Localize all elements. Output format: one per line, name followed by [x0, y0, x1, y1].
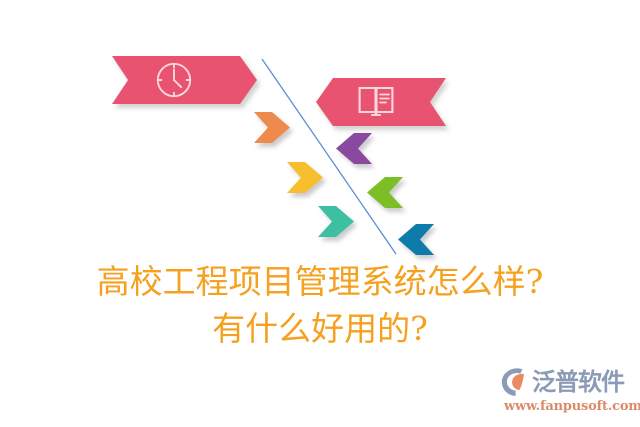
banner-canvas: 高校工程项目管理系统怎么样? 有什么好用的? 泛普软件 www.fanpusof… — [0, 0, 640, 427]
page-title-line-1: 高校工程项目管理系统怎么样? — [0, 258, 640, 305]
arrow-orange — [254, 112, 290, 143]
arrow-blue — [398, 224, 434, 255]
arrow-yellow — [287, 162, 323, 193]
brand-logo[interactable]: 泛普软件 www.fanpusoft.com — [500, 366, 636, 420]
arrow-green — [367, 177, 403, 208]
brand-name: 泛普软件 — [532, 367, 624, 397]
page-title: 高校工程项目管理系统怎么样? 有什么好用的? — [0, 258, 640, 352]
arrow-teal — [318, 206, 354, 237]
brand-url: www.fanpusoft.com — [504, 399, 636, 414]
arrow-purple — [336, 133, 372, 164]
fanpu-logo-mark — [500, 367, 531, 397]
brand-logo-row: 泛普软件 — [500, 366, 636, 398]
page-title-line-2: 有什么好用的? — [0, 305, 640, 352]
chevron-graphic — [0, 0, 640, 270]
clock-banner — [112, 56, 257, 104]
